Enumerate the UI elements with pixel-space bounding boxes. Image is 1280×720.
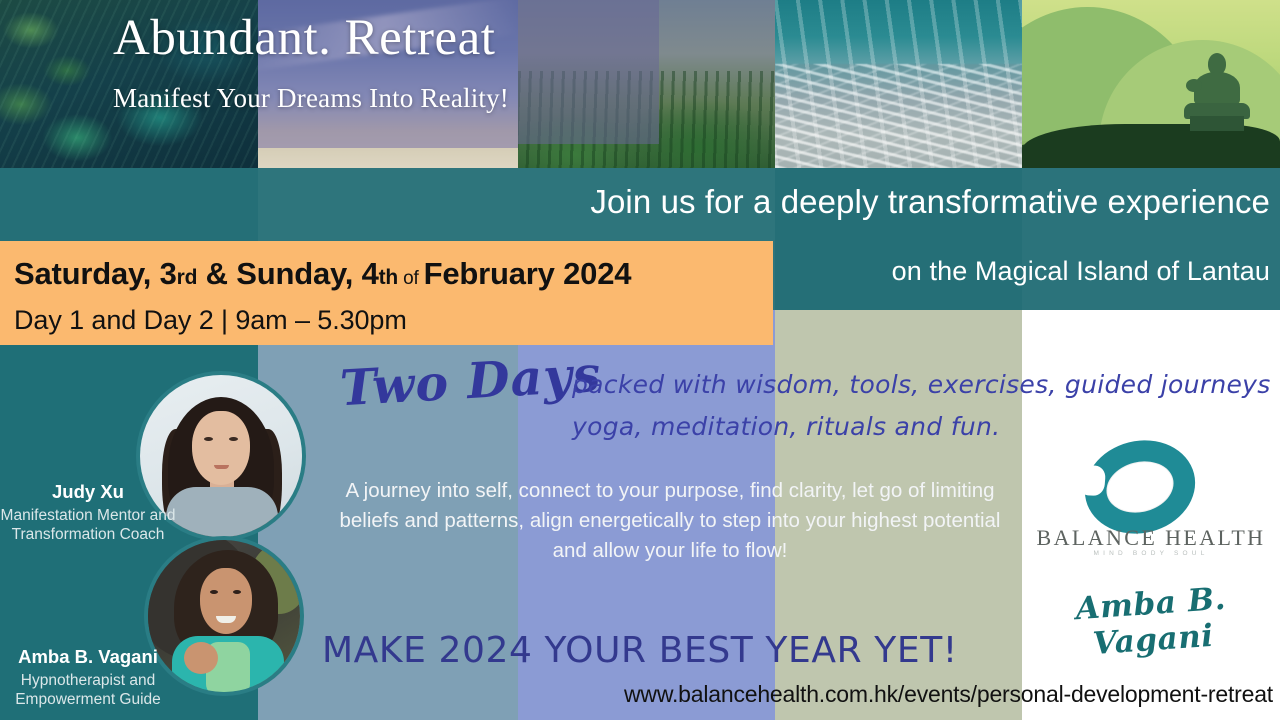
date-of: of [398,268,424,289]
date-day1: 3 [160,256,177,291]
header-title-group: Abundant. Retreat Manifest Your Dreams I… [0,0,1280,168]
handwritten-line-2: yoga, meditation, rituals and fun. [572,412,1000,441]
presenter-role-judy-xu: Manifestation Mentor and Transformation … [0,506,176,544]
page-title: Abundant. Retreat [113,9,495,67]
headline-line-1: Join us for a deeply transformative expe… [0,183,1270,221]
event-url[interactable]: www.balancehealth.com.hk/events/personal… [0,681,1273,708]
date-day1-suffix: rd [177,266,198,289]
handwritten-line-1: packed with wisdom, tools, exercises, gu… [572,370,1271,399]
date-day2-suffix: th [379,266,398,289]
balance-health-ring-logo [1086,441,1194,533]
date-month-year: February 2024 [424,256,632,291]
brand-name: BALANCE HEALTH [1022,525,1280,551]
brand-tagline: MIND BODY SOUL [1022,550,1280,557]
presenter-name-amba-vagani: Amba B. Vagani [0,646,176,668]
body-paragraph: A journey into self, connect to your pur… [320,476,1020,566]
date-days-label: Saturday, [14,256,160,291]
retreat-poster: Abundant. Retreat Manifest Your Dreams I… [0,0,1280,720]
date-line-1: Saturday, 3rd & Sunday, 4th of February … [14,256,631,292]
date-amp: & Sunday, [197,256,361,291]
date-line-2: Day 1 and Day 2 | 9am – 5.30pm [14,305,407,336]
page-subtitle: Manifest Your Dreams Into Reality! [113,83,509,114]
call-to-action-text: MAKE 2024 YOUR BEST YEAR YET! [322,630,958,671]
date-day2: 4 [362,256,379,291]
amba-vagani-photo [148,540,300,692]
presenter-name-judy-xu: Judy Xu [0,481,176,503]
